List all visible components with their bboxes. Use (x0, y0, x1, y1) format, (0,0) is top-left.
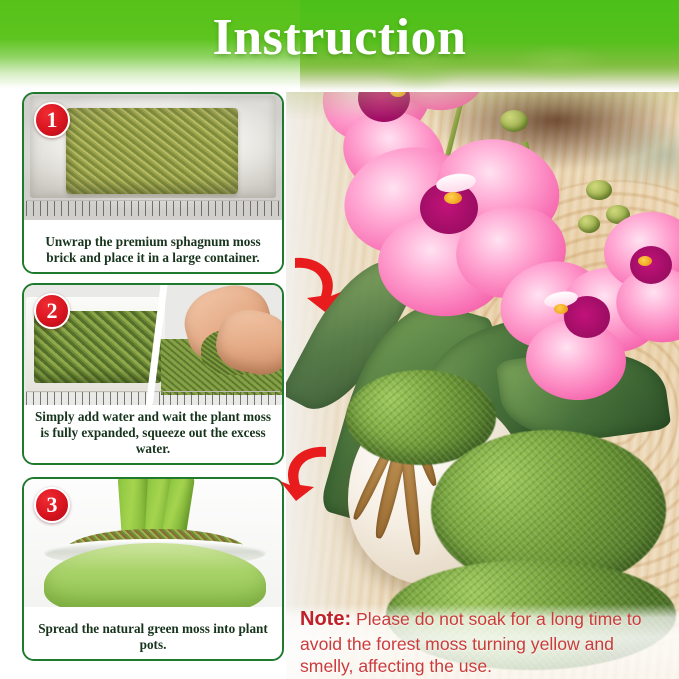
orchid-stamen (638, 256, 652, 266)
step-card-1: 1 Unwrap the premium sphagnum moss brick… (22, 92, 284, 274)
product-photo (286, 0, 679, 679)
instruction-page: Instruction 1 Unwrap the premium sphagnu… (0, 0, 679, 679)
flower-bud (586, 180, 612, 200)
step-2-caption: Simply add water and wait the plant moss… (24, 405, 282, 463)
orchid-stamen (444, 192, 462, 204)
step-card-2: 2 Simply add water and wait the plant mo… (22, 283, 284, 465)
flower-bud (578, 215, 600, 233)
step-1-caption: Unwrap the premium sphagnum moss brick a… (24, 230, 282, 272)
note-label: Note (300, 608, 344, 630)
note-text: Note: Please do not soak for a long time… (300, 607, 672, 678)
ruler (26, 200, 280, 216)
step-3-caption: Spread the natural green moss into plant… (24, 617, 282, 659)
orchid-stamen (554, 304, 568, 314)
header: Instruction (0, 0, 679, 92)
step-badge-3: 3 (34, 487, 70, 523)
step-badge-2: 2 (34, 293, 70, 329)
orchid-throat (630, 246, 672, 284)
step-card-3: 3 Spread the natural green moss into pla… (22, 477, 284, 661)
page-title: Instruction (0, 8, 679, 67)
step-2-image-right (161, 285, 282, 411)
note-body: Please do not soak for a long time to av… (300, 609, 642, 676)
step-badge-1: 1 (34, 102, 70, 138)
step-2-to-3-arrow (276, 443, 340, 507)
step-1-to-2-arrow (281, 252, 345, 316)
